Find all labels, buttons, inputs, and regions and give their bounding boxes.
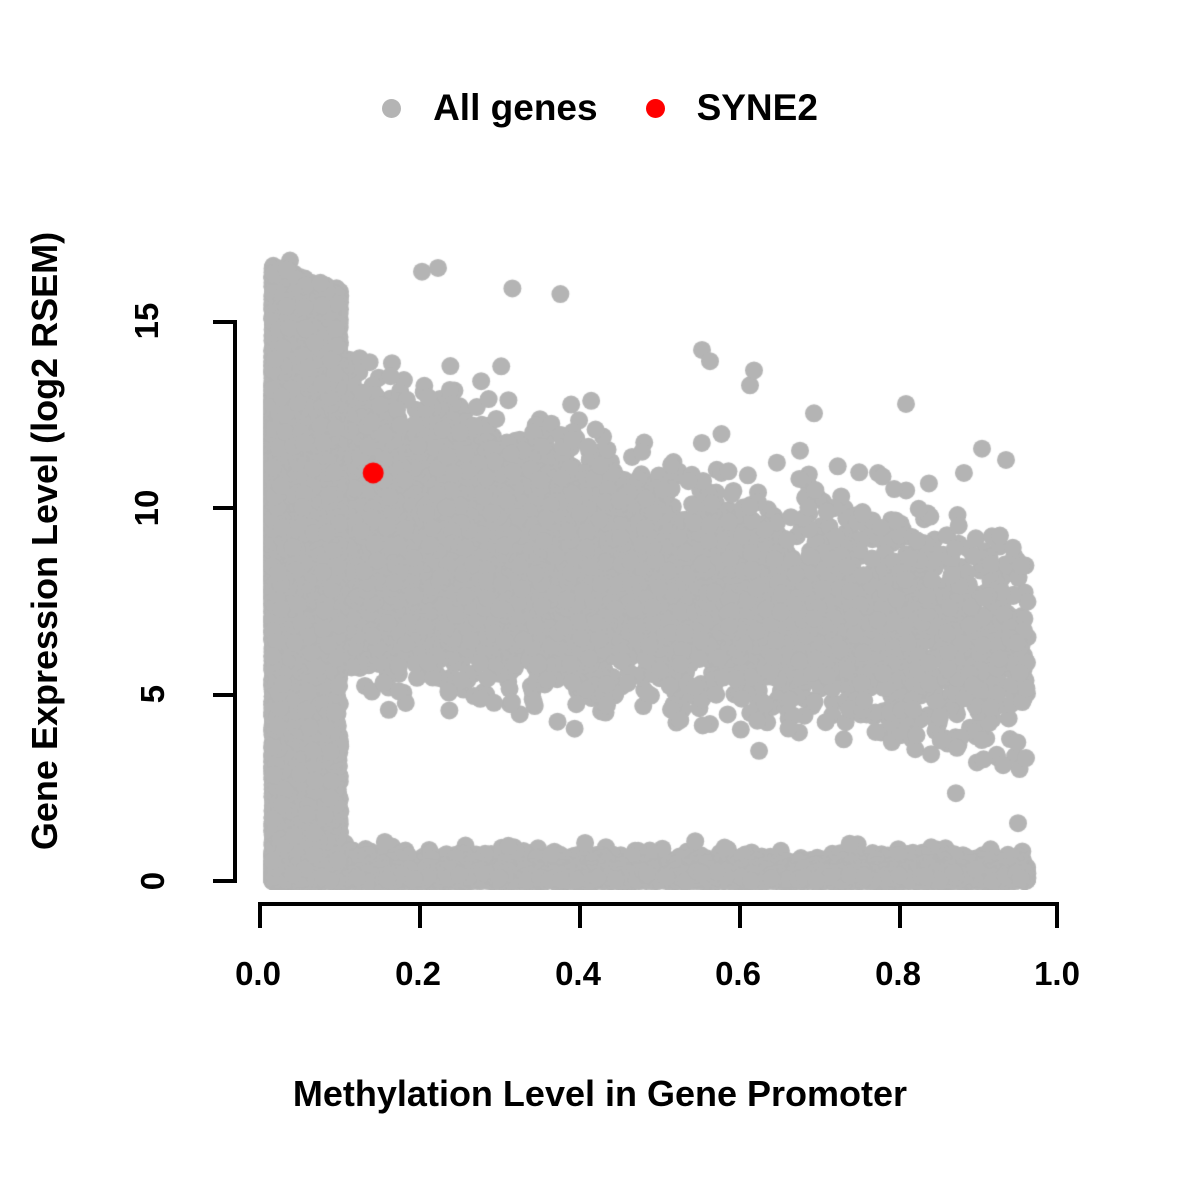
legend-label-syne2: SYNE2 bbox=[697, 87, 818, 129]
y-axis-tick bbox=[213, 320, 237, 324]
x-axis-tick-label: 0.6 bbox=[688, 955, 788, 993]
scatter-plot-canvas bbox=[238, 230, 1060, 890]
y-axis-tick-label: 10 bbox=[128, 478, 166, 538]
x-axis-tick bbox=[258, 902, 262, 928]
x-axis-tick bbox=[578, 902, 582, 928]
x-axis-tick-label: 0.2 bbox=[368, 955, 468, 993]
legend-label-all-genes: All genes bbox=[433, 87, 598, 129]
y-axis-tick-label: 5 bbox=[134, 664, 172, 724]
x-axis-tick bbox=[738, 902, 742, 928]
chart-page: All genes SYNE2 Gene Expression Level (l… bbox=[0, 0, 1200, 1200]
x-axis-tick-label: 0.0 bbox=[208, 955, 308, 993]
legend-marker-circle-icon bbox=[382, 99, 401, 118]
y-axis-line bbox=[233, 322, 237, 882]
x-axis-tick-label: 0.8 bbox=[848, 955, 948, 993]
y-axis-tick bbox=[213, 693, 237, 697]
chart-legend: All genes SYNE2 bbox=[0, 82, 1200, 134]
x-axis-tick bbox=[418, 902, 422, 928]
y-axis-tick bbox=[213, 879, 237, 883]
y-axis-tick-label: 0 bbox=[134, 851, 172, 911]
y-axis-title: Gene Expression Level (log2 RSEM) bbox=[24, 141, 66, 941]
y-axis-tick-label: 15 bbox=[128, 291, 166, 351]
x-axis-line bbox=[258, 902, 1058, 906]
y-axis-tick bbox=[213, 506, 237, 510]
x-axis-tick-label: 1.0 bbox=[1007, 955, 1107, 993]
plot-area bbox=[238, 230, 1060, 890]
legend-item-all-genes[interactable]: All genes bbox=[382, 87, 598, 129]
x-axis-tick bbox=[898, 902, 902, 928]
x-axis-title: Methylation Level in Gene Promoter bbox=[0, 1073, 1200, 1115]
legend-marker-circle-icon bbox=[646, 99, 665, 118]
legend-item-syne2[interactable]: SYNE2 bbox=[646, 87, 818, 129]
x-axis-tick bbox=[1055, 902, 1059, 928]
x-axis-tick-label: 0.4 bbox=[528, 955, 628, 993]
